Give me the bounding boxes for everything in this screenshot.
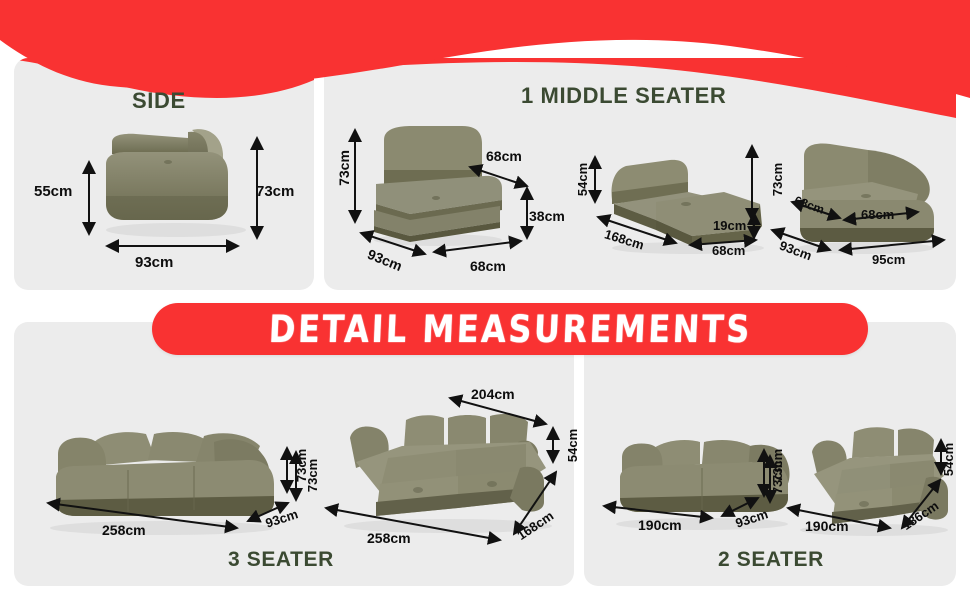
panel-title-side: SIDE [132, 88, 186, 114]
dim-two-bed-54: 54cm [941, 443, 956, 476]
sofa-illustration-side [96, 120, 256, 240]
dim-side-height-55: 55cm [34, 183, 72, 200]
dim-middle-upright-73: 73cm [336, 150, 352, 186]
sofa-illustration-three-seater-bed [330, 398, 560, 538]
dim-two-sofa-190: 190cm [638, 517, 682, 533]
panel-title-three-seater: 3 SEATER [228, 548, 334, 572]
dim-three-bed-54: 54cm [565, 429, 580, 462]
dim-three-bed-73: 73cm [305, 459, 320, 492]
dim-three-bed-258: 258cm [367, 530, 411, 546]
panel-title-middle-seater: 1 MIDDLE SEATER [521, 83, 726, 109]
dim-side-width-93: 93cm [135, 254, 173, 271]
dim-three-bed-204: 204cm [471, 386, 515, 402]
dim-three-sofa-258: 258cm [102, 522, 146, 538]
dim-middle-armchair-73: 73cm [770, 163, 785, 196]
dim-side-height-73: 73cm [256, 183, 294, 200]
sofa-illustration-middle-upright [366, 118, 516, 248]
dim-middle-upright-68-depth: 68cm [486, 148, 522, 164]
dim-middle-flat-68: 68cm [712, 243, 745, 258]
dim-middle-flat-54: 54cm [575, 163, 590, 196]
sofa-illustration-three-seater [36, 420, 286, 540]
dim-two-bed-190: 190cm [805, 518, 849, 534]
dim-middle-armchair-95: 95cm [872, 252, 905, 267]
dim-two-bed-73: 73cm [770, 461, 785, 494]
dim-middle-armchair-68-width: 68cm [861, 207, 894, 222]
detail-measurements-banner: DETAIL MEASUREMENTS [152, 303, 868, 355]
dim-middle-upright-68-width: 68cm [470, 258, 506, 274]
banner-title: DETAIL MEASUREMENTS [268, 307, 753, 352]
panel-title-two-seater: 2 SEATER [718, 548, 824, 572]
dim-middle-flat-19: 19cm [713, 218, 746, 233]
infographic-root: SIDE 1 MIDDLE SEATER 3 SEATER 2 SEATER 5… [0, 0, 970, 600]
dim-middle-upright-38: 38cm [529, 208, 565, 224]
